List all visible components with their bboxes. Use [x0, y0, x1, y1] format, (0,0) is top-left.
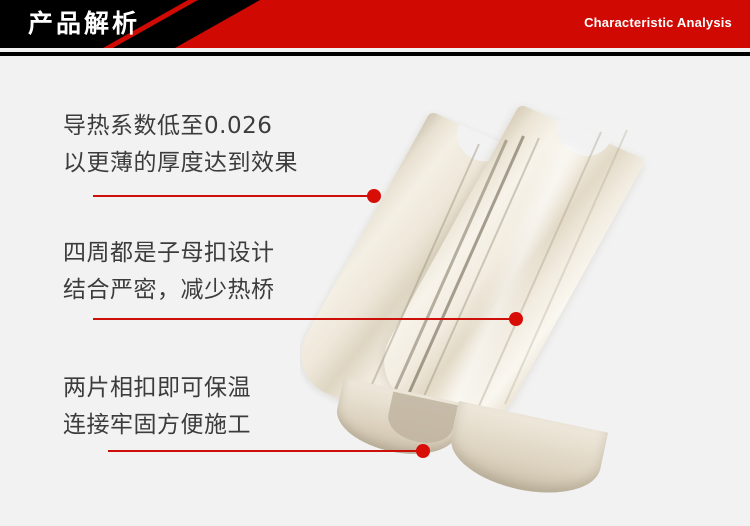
callout-line-2: [93, 312, 523, 326]
header-subtitle: Characteristic Analysis: [584, 13, 732, 33]
header-banner: 产品解析 Characteristic Analysis: [0, 0, 750, 48]
callout-rule: [93, 318, 515, 320]
product-analysis-page: 产品解析 Characteristic Analysis 导热系数低至0.026…: [0, 0, 750, 526]
callout-rule: [108, 450, 422, 452]
pipe-shell-cut-end-front: [444, 401, 608, 505]
feature-block-two-piece-assembly: 两片相扣即可保温 连接牢固方便施工: [63, 370, 251, 444]
callout-dot-icon: [367, 189, 381, 203]
page-title: 产品解析: [28, 6, 140, 42]
feature-line-2: 以更薄的厚度达到效果: [63, 145, 298, 182]
feature-block-thermal-conductivity: 导热系数低至0.026 以更薄的厚度达到效果: [63, 108, 298, 182]
callout-dot-icon: [416, 444, 430, 458]
feature-block-tongue-and-groove: 四周都是子母扣设计 结合严密，减少热桥: [63, 235, 275, 309]
feature-line-2: 结合严密，减少热桥: [63, 272, 275, 309]
callout-line-3: [108, 444, 430, 458]
callout-dot-icon: [509, 312, 523, 326]
callout-rule: [93, 195, 373, 197]
feature-line-1: 两片相扣即可保温: [63, 370, 251, 407]
callout-line-1: [93, 189, 381, 203]
header-divider-rule: [0, 52, 750, 56]
feature-line-1: 导热系数低至0.026: [63, 108, 298, 145]
feature-line-2: 连接牢固方便施工: [63, 407, 251, 444]
feature-line-1: 四周都是子母扣设计: [63, 235, 275, 272]
